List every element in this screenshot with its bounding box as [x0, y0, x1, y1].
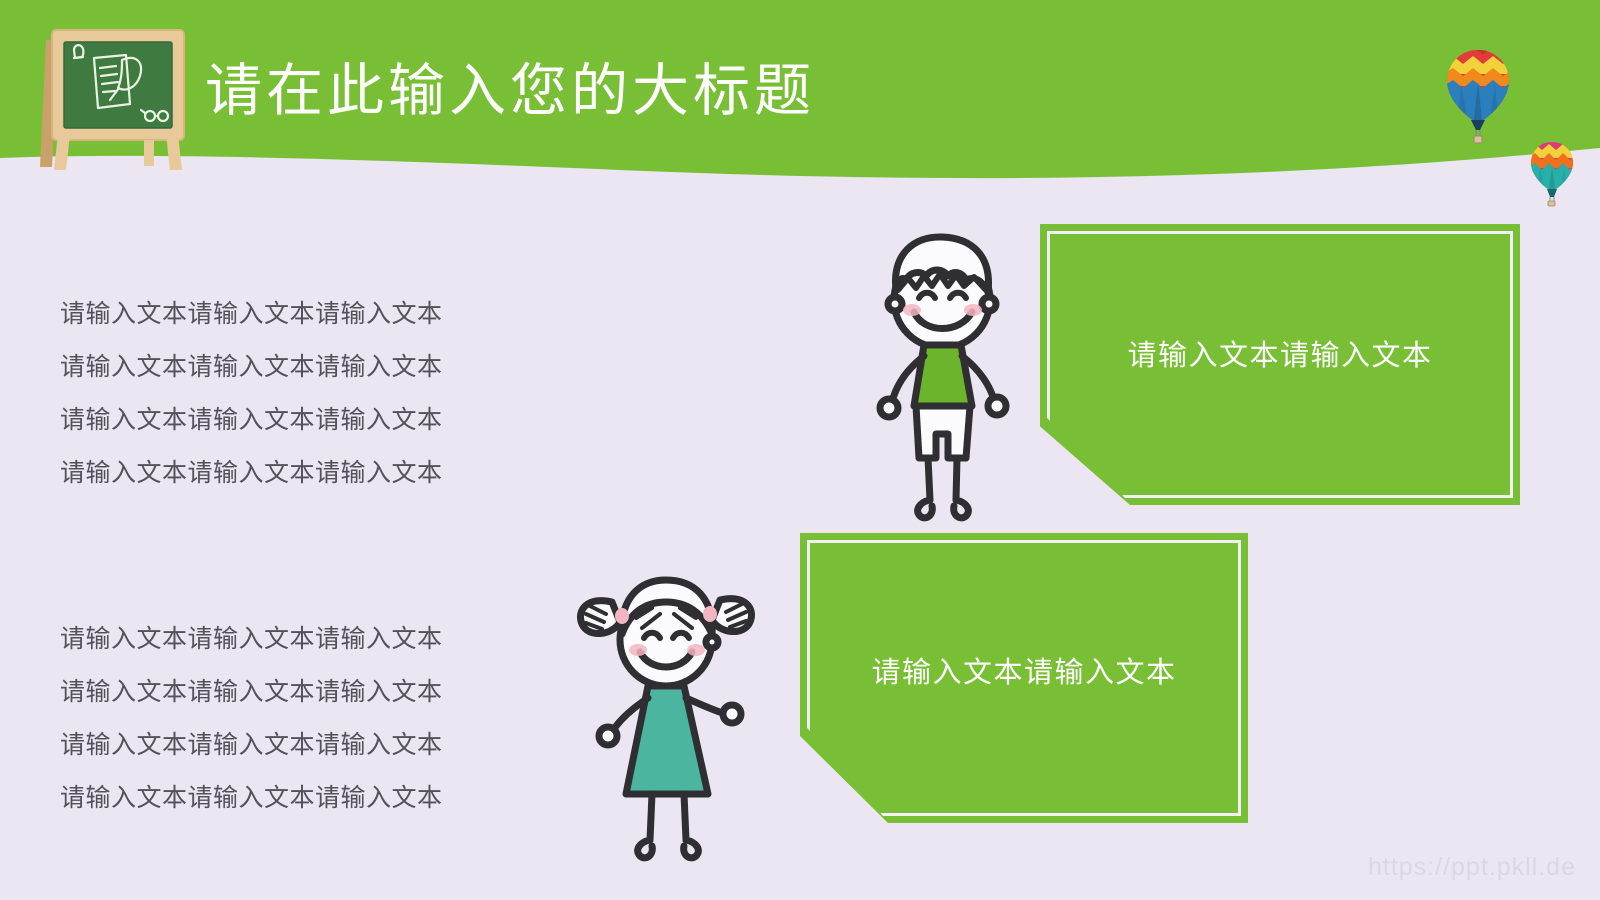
- text-line: 请输入文本请输入文本请输入文本: [60, 719, 443, 772]
- text-line: 请输入文本请输入文本请输入文本: [60, 394, 443, 447]
- callout-box-lower[interactable]: 请输入文本请输入文本: [800, 533, 1248, 823]
- watermark-url: https://ppt.pkll.de: [1368, 853, 1576, 882]
- text-line: 请输入文本请输入文本请输入文本: [60, 288, 443, 341]
- text-line: 请输入文本请输入文本请输入文本: [60, 447, 443, 500]
- presentation-slide: 请在此输入您的大标题: [0, 0, 1600, 900]
- page-title: 请在此输入您的大标题: [205, 60, 815, 123]
- boy-doodle-icon: [862, 228, 1022, 526]
- text-block-lower: 请输入文本请输入文本请输入文本 请输入文本请输入文本请输入文本 请输入文本请输入…: [60, 613, 443, 825]
- chalkboard-easel-icon: [18, 22, 208, 172]
- girl-doodle-icon: [568, 552, 764, 864]
- text-block-upper: 请输入文本请输入文本请输入文本 请输入文本请输入文本请输入文本 请输入文本请输入…: [60, 288, 443, 500]
- text-line: 请输入文本请输入文本请输入文本: [60, 772, 443, 825]
- text-line: 请输入文本请输入文本请输入文本: [60, 613, 443, 666]
- hot-air-balloon-icon: [1443, 48, 1513, 148]
- hot-air-balloon-icon: [1528, 140, 1576, 208]
- text-line: 请输入文本请输入文本请输入文本: [60, 666, 443, 719]
- callout-text: 请输入文本请输入文本: [871, 656, 1176, 691]
- callout-box-upper[interactable]: 请输入文本请输入文本: [1040, 224, 1520, 505]
- callout-text: 请输入文本请输入文本: [1127, 339, 1432, 374]
- text-line: 请输入文本请输入文本请输入文本: [60, 341, 443, 394]
